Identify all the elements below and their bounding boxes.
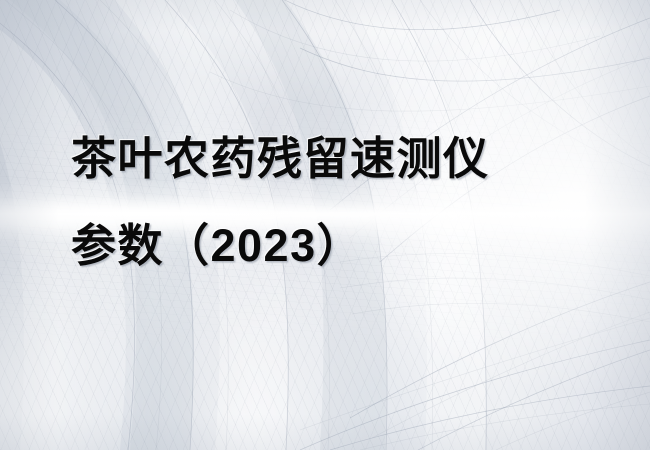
title-line-2: 参数（2023）: [71, 223, 591, 268]
title-line-1: 茶叶农药残留速测仪: [71, 136, 591, 181]
page-title: 茶叶农药残留速测仪 参数（2023）: [71, 136, 591, 268]
banner-image: 茶叶农药残留速测仪 参数（2023）: [0, 0, 650, 450]
